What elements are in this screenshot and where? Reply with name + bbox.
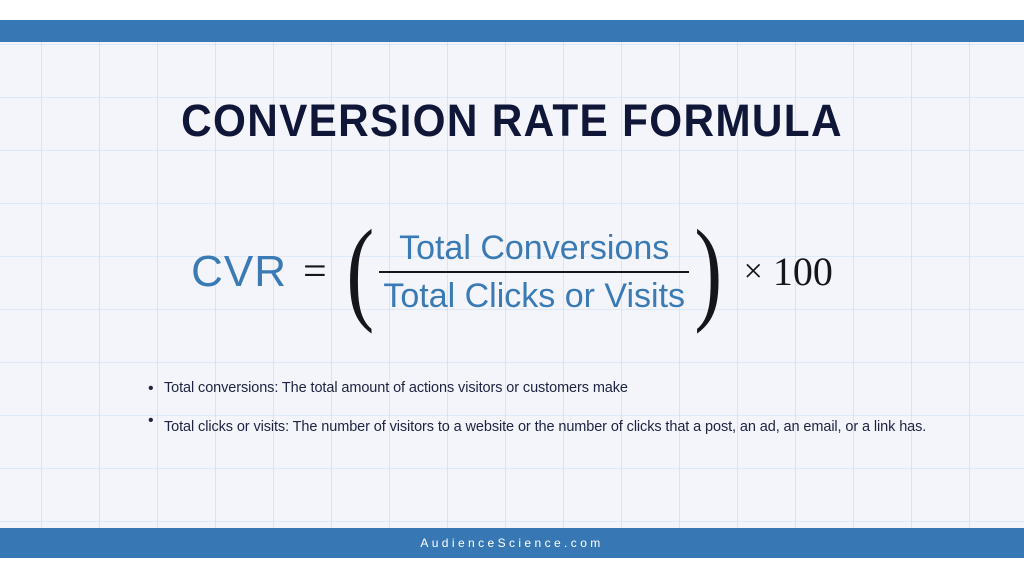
fraction-numerator: Total Conversions xyxy=(395,228,673,268)
list-item-text: Total conversions: The total amount of a… xyxy=(164,378,628,399)
footer-site-name: AudienceScience.com xyxy=(0,536,1024,550)
formula-equals-sign: = xyxy=(303,251,327,293)
top-accent-bar xyxy=(0,20,1024,42)
conversion-rate-formula: CVR = ( Total Conversions Total Clicks o… xyxy=(0,228,1024,316)
list-item: • Total conversions: The total amount of… xyxy=(148,378,948,399)
formula-lhs-cvr: CVR xyxy=(191,250,287,294)
definition-list: • Total conversions: The total amount of… xyxy=(148,378,948,455)
open-paren-icon: ( xyxy=(346,230,374,314)
formula-fraction: Total Conversions Total Clicks or Visits xyxy=(379,228,689,316)
formula-multiplier: 100 xyxy=(773,252,833,292)
bullet-dot-icon: • xyxy=(148,378,164,399)
close-paren-icon: ) xyxy=(694,230,722,314)
bullet-dot-icon: • xyxy=(148,410,164,431)
fraction-denominator: Total Clicks or Visits xyxy=(379,276,689,316)
slide-root: Conversion Rate Formula CVR = ( Total Co… xyxy=(0,0,1024,576)
page-title: Conversion Rate Formula xyxy=(31,95,994,147)
fraction-bar xyxy=(379,271,689,273)
multiplication-sign-icon: × xyxy=(744,255,763,289)
list-item-text: Total clicks or visits: The number of vi… xyxy=(164,410,926,444)
list-item: • Total clicks or visits: The number of … xyxy=(148,410,948,444)
